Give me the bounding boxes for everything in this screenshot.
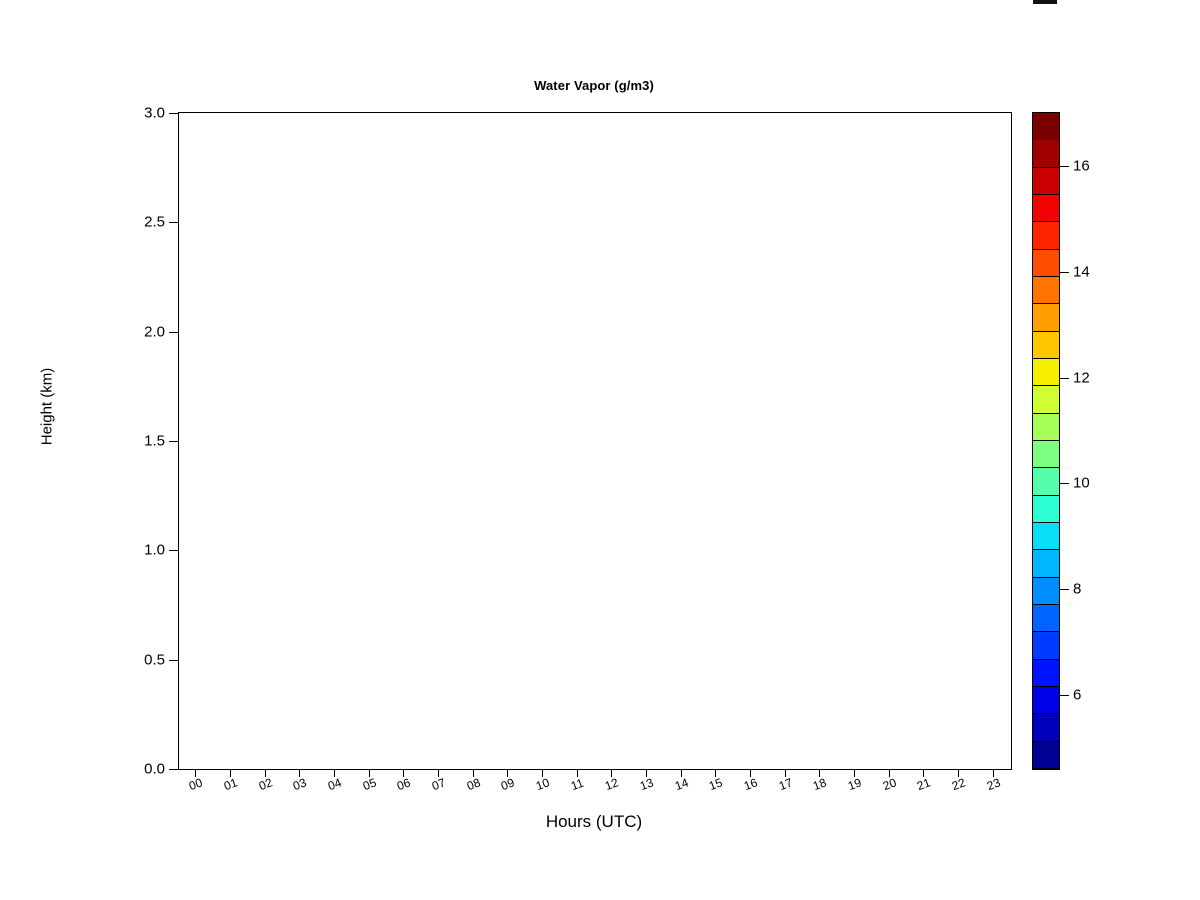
colorbar-tick-mark — [1060, 589, 1069, 590]
page-title: Water Vapor (g/m3) — [178, 78, 1010, 93]
y-tick-label: 1.5 — [144, 433, 165, 450]
x-tick-label: 11 — [569, 776, 586, 793]
colorbar-band — [1033, 414, 1059, 441]
x-tick-label: 18 — [811, 775, 828, 793]
colorbar-band — [1033, 222, 1059, 249]
x-tick-label: 13 — [638, 775, 655, 793]
y-tick-mark — [169, 113, 178, 114]
y-axis: 0.00.51.01.52.02.53.0 — [160, 112, 178, 770]
x-tick-label: 05 — [361, 775, 378, 793]
figure-canvas: Water Vapor (g/m3) 0.00.51.01.52.02.53.0… — [0, 0, 1200, 900]
y-tick-mark — [169, 222, 178, 223]
colorbar-band — [1033, 113, 1059, 140]
x-tick-label: 22 — [950, 775, 967, 793]
colorbar-band — [1033, 496, 1059, 523]
x-tick-label: 23 — [985, 775, 1002, 793]
colorbar-band — [1033, 386, 1059, 413]
colorbar-tick-label: 14 — [1073, 263, 1090, 280]
colorbar-tick-label: 16 — [1073, 157, 1090, 174]
colorbar-band — [1033, 632, 1059, 659]
x-tick-label: 03 — [291, 775, 308, 793]
colorbar-band — [1033, 195, 1059, 222]
colorbar-band — [1033, 660, 1059, 687]
colorbar-tick-label: 10 — [1073, 475, 1090, 492]
colorbar-band — [1033, 359, 1059, 386]
colorbar-band — [1033, 687, 1059, 714]
y-tick-mark — [169, 332, 178, 333]
x-tick-label: 04 — [326, 775, 343, 793]
colorbar-band — [1033, 523, 1059, 550]
colorbar-band — [1033, 742, 1059, 769]
colorbar-tick-label: 12 — [1073, 369, 1090, 386]
colorbar-band — [1033, 332, 1059, 359]
x-tick-label: 00 — [187, 775, 204, 793]
clipped-colorbar-cap — [1033, 0, 1057, 4]
x-tick-label: 19 — [846, 775, 863, 793]
x-tick-label: 08 — [465, 775, 482, 793]
x-tick-label: 17 — [777, 775, 794, 793]
y-tick-label: 1.0 — [144, 542, 165, 559]
heatmap-image — [179, 113, 1011, 769]
colorbar-band — [1033, 140, 1059, 167]
colorbar-band — [1033, 168, 1059, 195]
y-axis-title: Height (km) — [39, 342, 56, 472]
x-tick-label: 02 — [257, 775, 274, 793]
colorbar-tick-label: 6 — [1073, 686, 1081, 703]
colorbar-band — [1033, 304, 1059, 331]
colorbar-tick-mark — [1060, 378, 1069, 379]
colorbar-tick-mark — [1060, 695, 1069, 696]
colorbar-band — [1033, 250, 1059, 277]
colorbar-band — [1033, 468, 1059, 495]
y-tick-label: 2.5 — [144, 214, 165, 231]
colorbar-band — [1033, 605, 1059, 632]
y-tick-mark — [169, 769, 178, 770]
y-tick-label: 0.5 — [144, 651, 165, 668]
colorbar-legend: 6810121416 — [1032, 112, 1182, 770]
colorbar-tick-label: 8 — [1073, 581, 1081, 598]
colorbar-band — [1033, 277, 1059, 304]
x-tick-label: 06 — [395, 775, 412, 793]
y-tick-label: 0.0 — [144, 761, 165, 778]
colorbar-strip — [1032, 112, 1060, 770]
colorbar-tick-mark — [1060, 483, 1069, 484]
x-tick-label: 12 — [603, 775, 620, 793]
x-tick-label: 16 — [742, 775, 759, 793]
y-tick-mark — [169, 550, 178, 551]
x-tick-label: 01 — [222, 775, 239, 793]
heatmap-plot-area — [178, 112, 1012, 770]
x-tick-label: 07 — [430, 775, 447, 793]
y-tick-label: 2.0 — [144, 323, 165, 340]
x-tick-label: 10 — [534, 775, 551, 793]
x-axis: 0001020304050607080910111213141516171819… — [178, 769, 1012, 815]
x-tick-label: 09 — [499, 775, 516, 793]
colorbar-band — [1033, 714, 1059, 741]
colorbar-tick-mark — [1060, 272, 1069, 273]
y-tick-label: 3.0 — [144, 105, 165, 122]
y-tick-mark — [169, 660, 178, 661]
y-tick-mark — [169, 441, 178, 442]
colorbar-band — [1033, 550, 1059, 577]
x-tick-label: 21 — [915, 775, 932, 793]
x-tick-label: 20 — [881, 775, 898, 793]
x-tick-label: 14 — [673, 775, 690, 793]
x-axis-title: Hours (UTC) — [178, 812, 1010, 832]
colorbar-tick-mark — [1060, 166, 1069, 167]
x-tick-label: 15 — [707, 775, 724, 793]
colorbar-band — [1033, 578, 1059, 605]
colorbar-band — [1033, 441, 1059, 468]
